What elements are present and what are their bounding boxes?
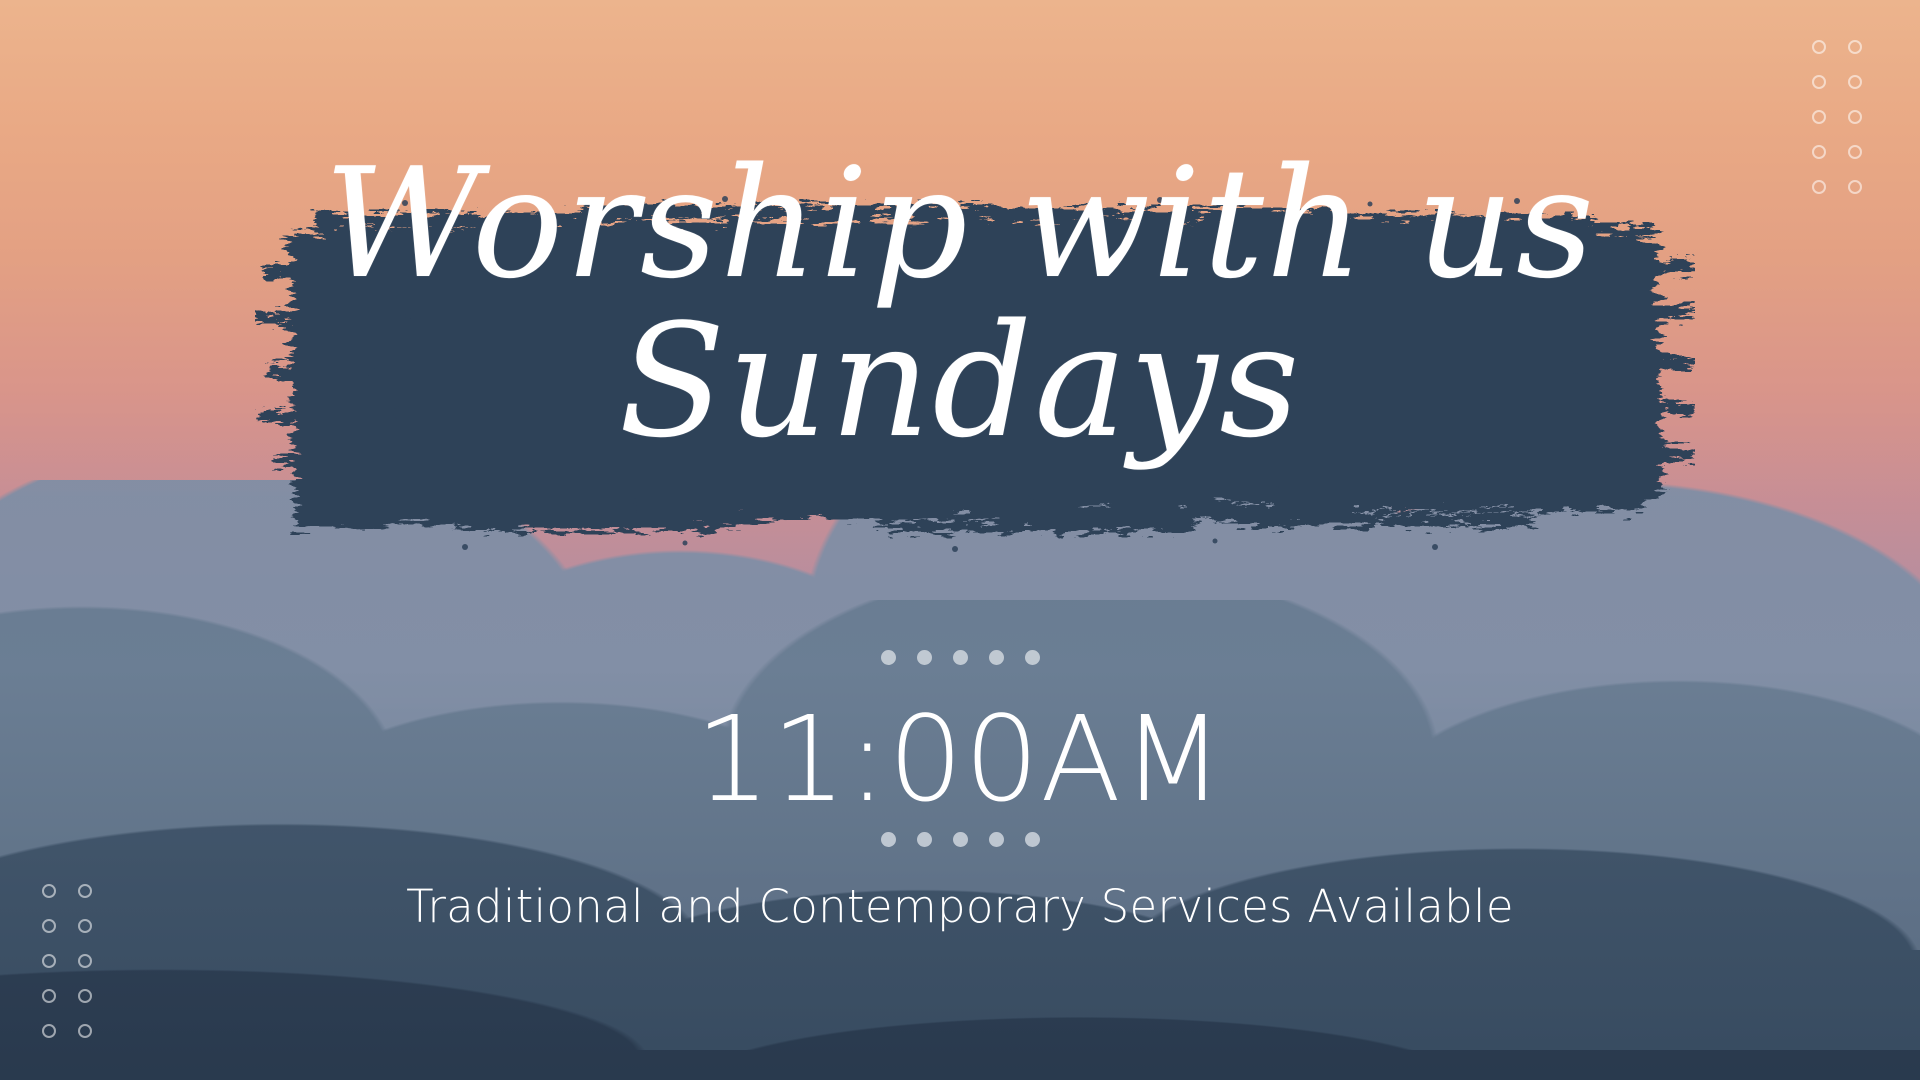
dot-separator-top <box>0 650 1920 665</box>
separator-dot <box>953 832 968 847</box>
circle-icon <box>78 989 92 1003</box>
circle-icon <box>1812 40 1826 54</box>
circle-icon <box>1848 75 1862 89</box>
circle-icon <box>1848 110 1862 124</box>
mountain-ridge-front <box>0 930 1920 1080</box>
circle-icon <box>1812 180 1826 194</box>
separator-dot <box>917 650 932 665</box>
circle-icon <box>1812 110 1826 124</box>
circle-icon <box>42 919 56 933</box>
circle-icon <box>1848 40 1862 54</box>
separator-dot <box>1025 832 1040 847</box>
circle-icon <box>78 1024 92 1038</box>
circle-icon <box>1848 145 1862 159</box>
separator-dot <box>989 650 1004 665</box>
circle-icon <box>42 884 56 898</box>
separator-dot <box>917 832 932 847</box>
circle-icon <box>1848 180 1862 194</box>
circle-icon <box>78 954 92 968</box>
separator-dot <box>953 650 968 665</box>
separator-dot <box>1025 650 1040 665</box>
circle-grid-top-right <box>1812 40 1862 194</box>
separator-dot <box>881 832 896 847</box>
circle-grid-bottom-left <box>42 884 92 1038</box>
circle-icon <box>42 954 56 968</box>
brush-stroke-banner <box>255 195 1695 595</box>
circle-icon <box>1812 75 1826 89</box>
separator-dot <box>881 650 896 665</box>
dot-separator-bottom <box>0 832 1920 847</box>
circle-icon <box>1812 145 1826 159</box>
separator-dot <box>989 832 1004 847</box>
worship-slide: Worship with us Sundays 11:00AM Traditio… <box>0 0 1920 1080</box>
circle-icon <box>78 884 92 898</box>
service-time: 11:00AM <box>0 700 1920 818</box>
circle-icon <box>78 919 92 933</box>
circle-icon <box>42 989 56 1003</box>
service-subtitle: Traditional and Contemporary Services Av… <box>0 882 1920 932</box>
circle-icon <box>42 1024 56 1038</box>
